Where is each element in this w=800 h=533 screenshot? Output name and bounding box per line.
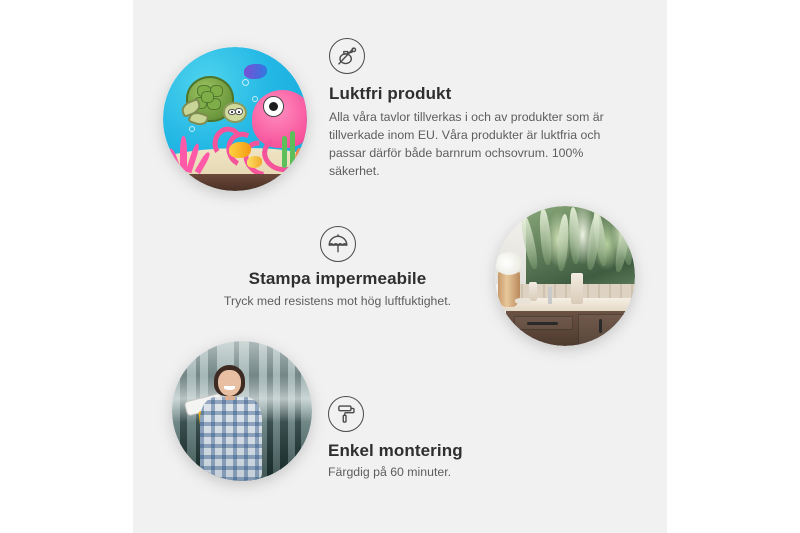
feature-body: Tryck med resistens mot hög luftfuktighe… [195,293,480,311]
no-fragrance-spray-icon [329,38,365,74]
feature-body: Alla våra tavlor tillverkas i och av pro… [329,109,629,180]
feature-title: Luktfri produkt [329,84,629,104]
feature-body: Färgdig på 60 minuter. [328,464,588,482]
feature-title: Enkel montering [328,441,588,461]
umbrella-icon [320,226,356,262]
medallion-image-bathroom [495,206,635,346]
feature-waterproof-print: Stampa impermeabile Tryck med resistens … [195,226,480,311]
medallion-image-forest [172,341,312,481]
feature-easy-mounting: Enkel montering Färgdig på 60 minuter. [328,396,588,482]
feature-title: Stampa impermeabile [195,269,480,289]
paint-roller-icon [328,396,364,432]
feature-odour-free: Luktfri produkt Alla våra tavlor tillver… [329,38,629,181]
medallion-image-sea [163,47,307,191]
product-feature-graphic: Luktfri produkt Alla våra tavlor tillver… [0,0,800,533]
